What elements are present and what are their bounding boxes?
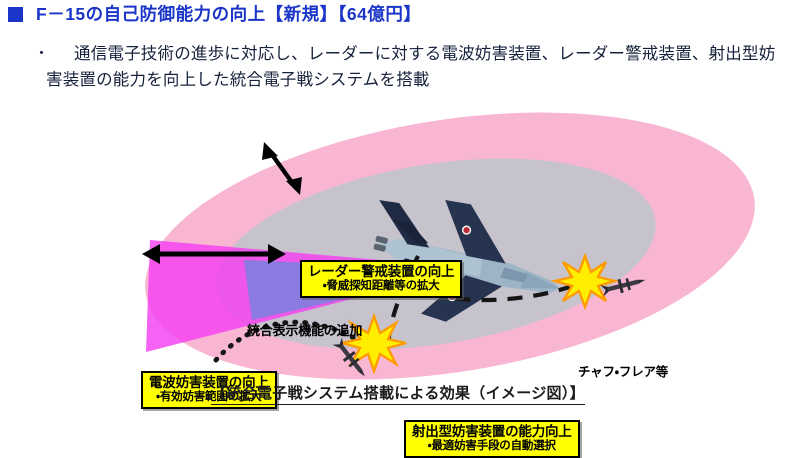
callout-subtitle: ・脅威探知距離等の拡大 bbox=[308, 280, 454, 294]
callout-expendable-jamming[interactable]: 射出型妨害装置の能力向上 ・最適妨害手段の自動選択 bbox=[404, 420, 580, 458]
subtitle-text: 通信電子技術の進歩に対応し、レーダーに対する電波妨害装置、レーダー警戒装置、射出… bbox=[46, 41, 779, 93]
subtitle-row: ・ 通信電子技術の進歩に対応し、レーダーに対する電波妨害装置、レーダー警戒装置、… bbox=[34, 41, 779, 93]
concept-diagram: レーダー警戒装置の向上 ・脅威探知距離等の拡大 電波妨害装置の向上 ・有効妨害範… bbox=[0, 108, 796, 380]
page-title: F－15の自己防御能力の向上【新規】【64億円】 bbox=[36, 6, 421, 24]
callout-radar-warning[interactable]: レーダー警戒装置の向上 ・脅威探知距離等の拡大 bbox=[300, 260, 462, 298]
callout-title: 射出型妨害装置の能力向上 bbox=[412, 424, 572, 440]
missile-burst-right bbox=[555, 256, 615, 307]
callout-title: レーダー警戒装置の向上 bbox=[308, 264, 454, 280]
callout-subtitle: ・最適妨害手段の自動選択 bbox=[412, 440, 572, 454]
slide-title-row: F－15の自己防御能力の向上【新規】【64億円】 bbox=[8, 6, 421, 24]
label-chaff-flare: チャフ・フレア等 bbox=[578, 361, 668, 380]
filled-square-bullet-icon bbox=[8, 7, 23, 22]
diagram-canvas bbox=[0, 108, 796, 380]
label-integrated-display: 統合表示機能の追加 bbox=[247, 320, 362, 339]
figure-caption-text: 【統合電子戦システム搭載による効果（イメージ図）】 bbox=[211, 385, 585, 405]
figure-caption: 【統合電子戦システム搭載による効果（イメージ図）】 bbox=[0, 382, 796, 403]
middle-dot-bullet-icon: ・ bbox=[34, 41, 46, 66]
